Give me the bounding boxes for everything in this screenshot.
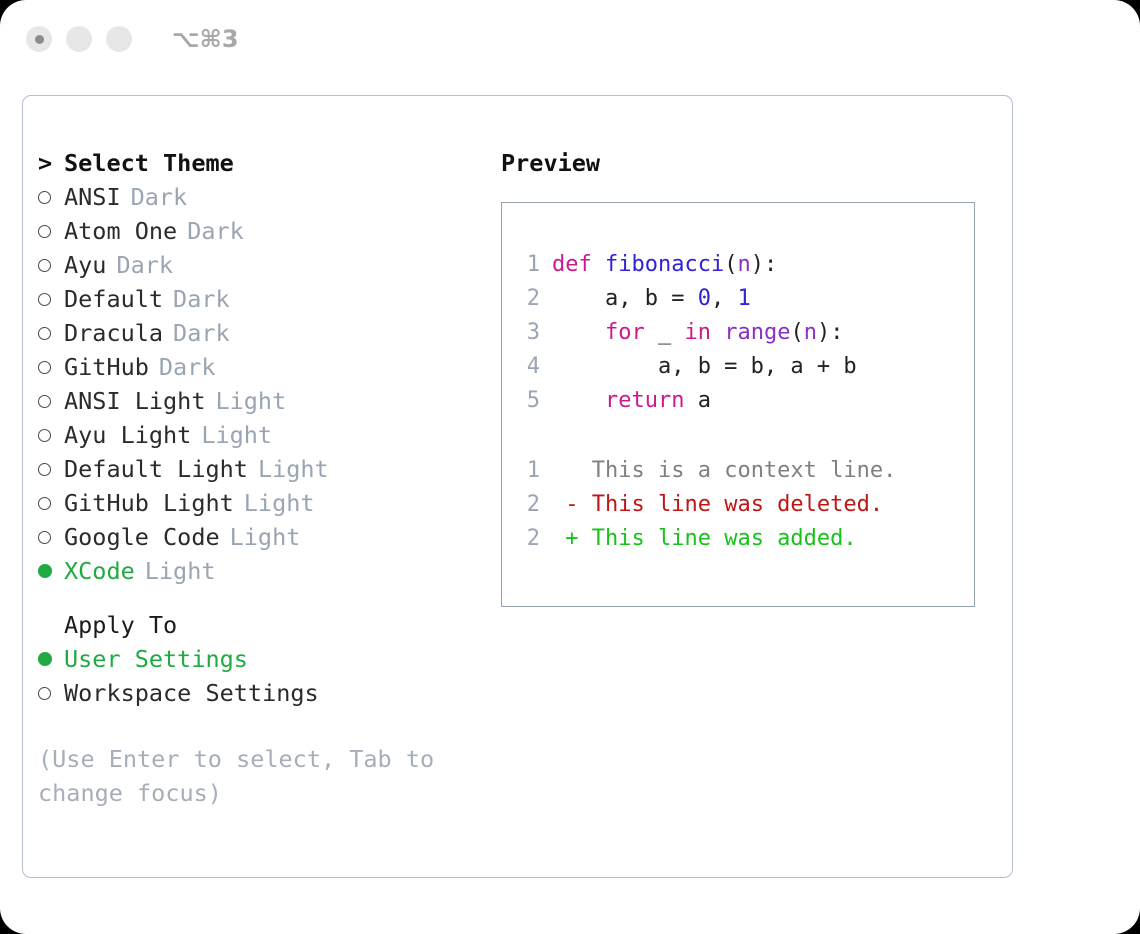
theme-name-label: Atom One: [64, 217, 177, 245]
code-token-bi: range: [724, 320, 790, 345]
apply-to-list: User SettingsWorkspace Settings: [38, 642, 478, 710]
code-token-num: 0: [698, 286, 711, 311]
theme-name-label: Google Code: [64, 523, 220, 551]
theme-name-label: Ayu Light: [64, 421, 191, 449]
code-line: 5 return a: [514, 384, 974, 418]
code-token-pl: a, b =: [552, 286, 698, 311]
diff-line: 2 + This line was added.: [514, 522, 974, 556]
radio-selected-icon[interactable]: [38, 554, 64, 588]
diff-sign-del: -: [552, 492, 592, 517]
title-bar: ⌥⌘3: [0, 0, 1140, 78]
code-token-kw: return: [605, 388, 684, 413]
diff-sample: 1 This is a context line.2 - This line w…: [514, 454, 974, 556]
code-token-pl: [552, 320, 605, 345]
code-token-kw: in: [684, 320, 711, 345]
code-token-pl: [552, 388, 605, 413]
theme-variant-label: Dark: [131, 183, 188, 211]
select-theme-heading-label: Select Theme: [64, 149, 234, 177]
code-line-number: 1: [514, 248, 540, 282]
theme-variant-label: Dark: [159, 353, 216, 381]
theme-list-item[interactable]: GitHub LightLight: [38, 486, 478, 520]
code-line: 4 a, b = b, a + b: [514, 350, 974, 384]
theme-list-item[interactable]: XCodeLight: [38, 554, 478, 588]
radio-unselected-icon[interactable]: [38, 520, 64, 554]
plain-dot-icon-2[interactable]: [106, 26, 132, 52]
theme-name-label: Default: [64, 285, 163, 313]
theme-name-label: XCode: [64, 557, 135, 585]
theme-name-label: Ayu: [64, 251, 106, 279]
code-token-pl: a: [684, 388, 711, 413]
code-diff-gap: [514, 418, 974, 454]
record-dot-inner-icon: [35, 35, 44, 44]
caret-icon: >: [38, 146, 64, 180]
radio-unselected-icon[interactable]: [38, 248, 64, 282]
code-token-pl: _: [645, 320, 685, 345]
radio-unselected-icon[interactable]: [38, 676, 64, 710]
theme-list-item[interactable]: GitHubDark: [38, 350, 478, 384]
theme-list-item[interactable]: Ayu LightLight: [38, 418, 478, 452]
preview-column: Preview 1def fibonacci(n):2 a, b = 0, 13…: [501, 146, 1001, 607]
radio-unselected-icon[interactable]: [38, 384, 64, 418]
main-panel: >Select Theme ANSIDarkAtom OneDarkAyuDar…: [22, 95, 1013, 878]
preview-heading: Preview: [501, 146, 1001, 180]
code-token-pl: (: [790, 320, 803, 345]
apply-to-option-label: Workspace Settings: [64, 679, 319, 707]
code-line-number: 2: [514, 282, 540, 316]
radio-unselected-icon[interactable]: [38, 418, 64, 452]
code-token-kw: for: [605, 320, 645, 345]
code-line: 2 a, b = 0, 1: [514, 282, 974, 316]
theme-variant-label: Dark: [173, 285, 230, 313]
radio-unselected-icon[interactable]: [38, 282, 64, 316]
diff-line-text: This is a context line.: [592, 458, 897, 483]
apply-to-heading: Apply To: [38, 608, 478, 642]
theme-list-item[interactable]: Google CodeLight: [38, 520, 478, 554]
diff-sign-add: +: [552, 526, 592, 551]
radio-unselected-icon[interactable]: [38, 452, 64, 486]
diff-line: 1 This is a context line.: [514, 454, 974, 488]
theme-name-label: GitHub Light: [64, 489, 234, 517]
code-token-fn: fibonacci: [605, 252, 724, 277]
code-token-pl: ):: [817, 320, 844, 345]
radio-unselected-icon[interactable]: [38, 486, 64, 520]
theme-name-label: ANSI Light: [64, 387, 205, 415]
theme-variant-label: Light: [145, 557, 216, 585]
theme-variant-label: Light: [230, 523, 301, 551]
diff-line-number: 2: [514, 522, 540, 556]
window-controls: [26, 26, 132, 52]
theme-list-item[interactable]: DefaultDark: [38, 282, 478, 316]
code-line-number: 5: [514, 384, 540, 418]
preview-box: 1def fibonacci(n):2 a, b = 0, 13 for _ i…: [501, 202, 975, 607]
section-spacer-1: [38, 588, 478, 608]
app-window: ⌥⌘3 >Select Theme ANSIDarkAtom OneDarkAy…: [0, 0, 1140, 934]
plain-dot-icon-1[interactable]: [66, 26, 92, 52]
theme-name-label: GitHub: [64, 353, 149, 381]
theme-list-item[interactable]: AyuDark: [38, 248, 478, 282]
theme-variant-label: Dark: [116, 251, 173, 279]
theme-variant-label: Light: [201, 421, 272, 449]
code-line-number: 4: [514, 350, 540, 384]
code-token-var: n: [804, 320, 817, 345]
radio-unselected-icon[interactable]: [38, 316, 64, 350]
code-token-num: 1: [737, 286, 750, 311]
theme-selector-column: >Select Theme ANSIDarkAtom OneDarkAyuDar…: [38, 146, 478, 810]
apply-to-option-label: User Settings: [64, 645, 248, 673]
theme-name-label: ANSI: [64, 183, 121, 211]
theme-variant-label: Light: [258, 455, 329, 483]
theme-name-label: Dracula: [64, 319, 163, 347]
code-sample: 1def fibonacci(n):2 a, b = 0, 13 for _ i…: [514, 248, 974, 418]
keyboard-shortcut-label: ⌥⌘3: [172, 25, 239, 53]
diff-line: 2 - This line was deleted.: [514, 488, 974, 522]
diff-line-number: 1: [514, 454, 540, 488]
radio-selected-icon[interactable]: [38, 642, 64, 676]
code-token-kw: def: [552, 252, 592, 277]
code-token-pl: ):: [751, 252, 778, 277]
record-dot-icon[interactable]: [26, 26, 52, 52]
theme-variant-label: Dark: [173, 319, 230, 347]
radio-unselected-icon[interactable]: [38, 350, 64, 384]
apply-to-option[interactable]: User Settings: [38, 642, 478, 676]
theme-name-label: Default Light: [64, 455, 248, 483]
theme-variant-label: Light: [215, 387, 286, 415]
diff-line-number: 2: [514, 488, 540, 522]
section-spacer-2: [38, 710, 478, 742]
diff-sign-ctx: [552, 458, 592, 483]
diff-line-text: This line was added.: [592, 526, 857, 551]
code-line: 1def fibonacci(n):: [514, 248, 974, 282]
code-token-var: n: [737, 252, 750, 277]
code-token-pl: ,: [711, 286, 738, 311]
apply-to-option[interactable]: Workspace Settings: [38, 676, 478, 710]
code-line-number: 3: [514, 316, 540, 350]
diff-line-text: This line was deleted.: [592, 492, 883, 517]
radio-unselected-icon[interactable]: [38, 180, 64, 214]
code-token-pl: [711, 320, 724, 345]
code-token-pl: [592, 252, 605, 277]
theme-list-item[interactable]: DraculaDark: [38, 316, 478, 350]
theme-list-item[interactable]: ANSI LightLight: [38, 384, 478, 418]
theme-list-item[interactable]: ANSIDark: [38, 180, 478, 214]
theme-list: ANSIDarkAtom OneDarkAyuDarkDefaultDarkDr…: [38, 180, 478, 588]
theme-variant-label: Light: [244, 489, 315, 517]
code-line: 3 for _ in range(n):: [514, 316, 974, 350]
theme-list-item[interactable]: Default LightLight: [38, 452, 478, 486]
code-token-pl: (: [724, 252, 737, 277]
theme-list-item[interactable]: Atom OneDark: [38, 214, 478, 248]
select-theme-heading: >Select Theme: [38, 146, 478, 180]
theme-variant-label: Dark: [187, 217, 244, 245]
keyboard-hint-text: (Use Enter to select, Tab to change focu…: [38, 742, 458, 810]
code-token-pl: a, b = b, a + b: [552, 354, 857, 379]
radio-unselected-icon[interactable]: [38, 214, 64, 248]
